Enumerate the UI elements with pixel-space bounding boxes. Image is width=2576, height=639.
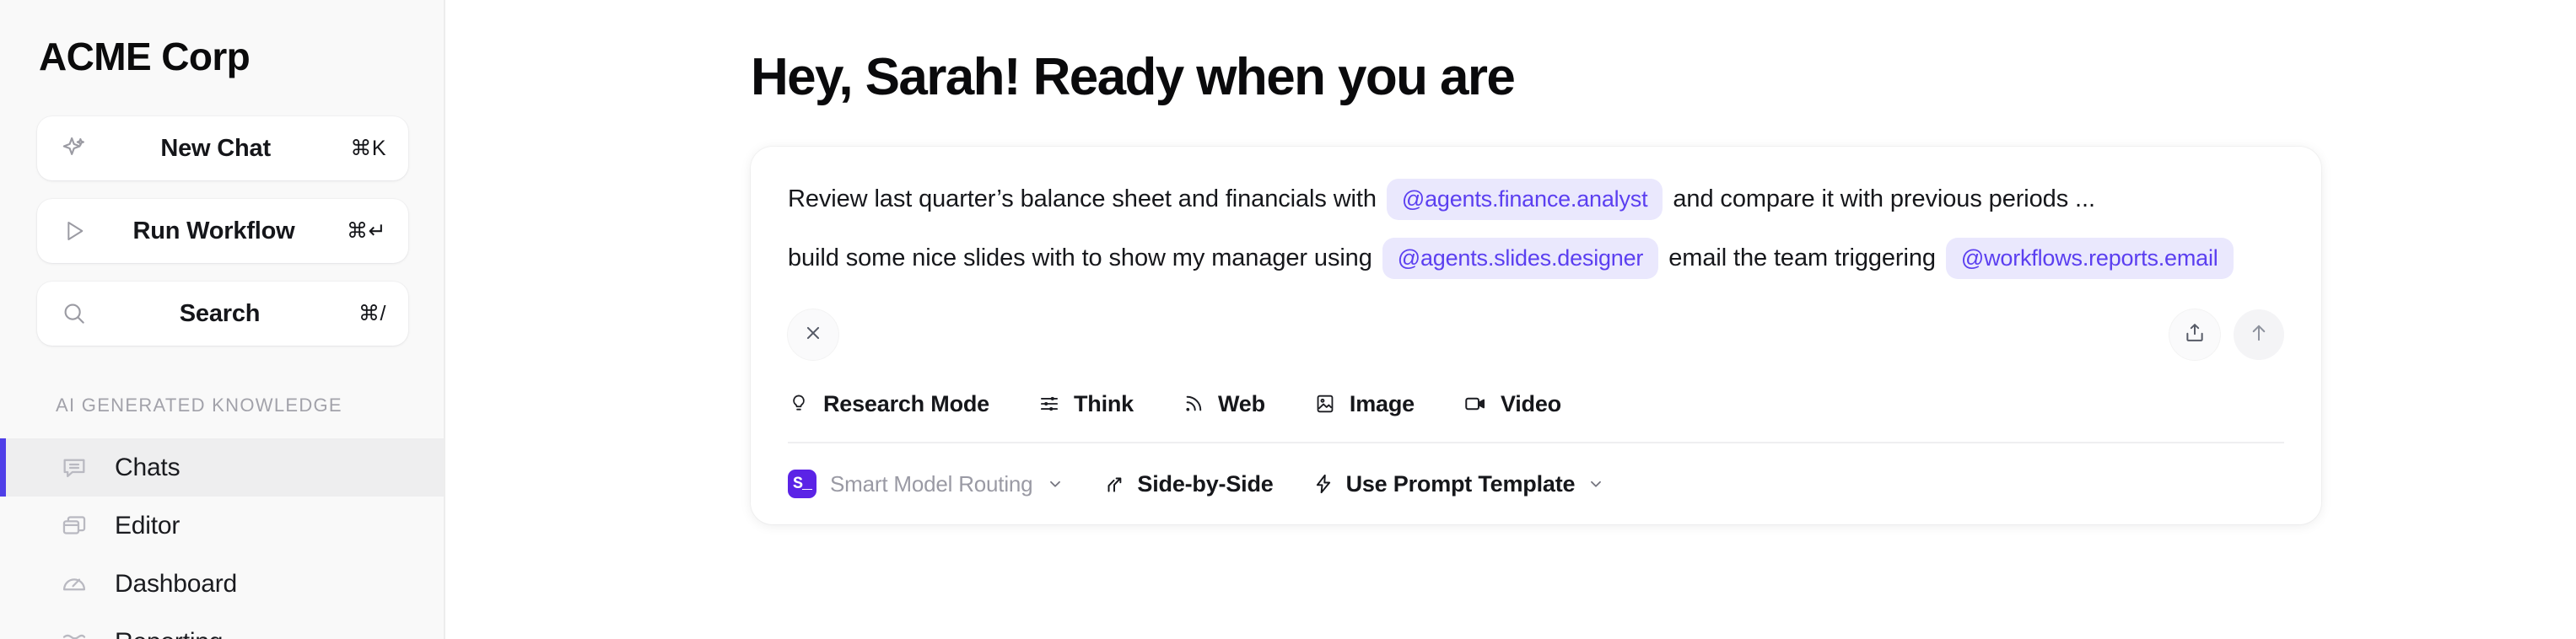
tool-label: Research Mode	[823, 391, 989, 417]
tool-label: Web	[1218, 391, 1265, 417]
share-button[interactable]	[2169, 309, 2220, 360]
brand-title: ACME Corp	[0, 24, 444, 79]
section-label-ai-generated-knowledge: AI GENERATED KNOWLEDGE	[0, 395, 444, 416]
sidebar-nav: Chats Editor	[0, 438, 444, 639]
bolt-icon	[1312, 473, 1334, 495]
tool-image[interactable]: Image	[1314, 391, 1415, 417]
run-workflow-button[interactable]: Run Workflow ⌘↵	[37, 199, 408, 263]
composer-tool-row: Research Mode Think	[788, 366, 2284, 437]
prompt-text-segment: Review last quarter’s balance sheet and …	[788, 185, 1377, 213]
composer-right-actions	[2169, 309, 2284, 360]
quick-actions: New Chat ⌘K Run Workflow ⌘↵	[0, 116, 444, 346]
sidebar-item-chats[interactable]: Chats	[0, 438, 444, 497]
sidebar-item-label: Dashboard	[115, 570, 237, 599]
tool-label: Think	[1074, 391, 1134, 417]
mention-chip-workflows-reports-email[interactable]: @workflows.reports.email	[1946, 238, 2234, 279]
gauge-icon	[56, 566, 93, 603]
smart-routing-badge: S_	[788, 470, 816, 498]
tool-label: Video	[1501, 391, 1561, 417]
search-button[interactable]: Search ⌘/	[37, 282, 408, 346]
main-content: Hey, Sarah! Ready when you are Review la…	[445, 0, 2576, 639]
chevron-down-icon	[1046, 475, 1064, 493]
search-label: Search	[81, 300, 358, 328]
side-by-side-button[interactable]: Side-by-Side	[1103, 471, 1273, 497]
chevron-down-icon	[1587, 475, 1605, 493]
run-workflow-shortcut: ⌘↵	[347, 218, 386, 244]
tool-video[interactable]: Video	[1463, 391, 1561, 417]
app-root: ACME Corp New Chat ⌘K Run Wo	[0, 0, 2576, 639]
model-selector[interactable]: S_ Smart Model Routing	[788, 470, 1064, 498]
prompt-line-2[interactable]: build some nice slides with to show my m…	[788, 234, 2284, 282]
option-label: Use Prompt Template	[1346, 471, 1576, 497]
sidebar-item-dashboard[interactable]: Dashboard	[0, 555, 444, 613]
sidebar-item-editor[interactable]: Editor	[0, 497, 444, 555]
sidebar-item-label: Chats	[115, 454, 180, 482]
tool-label: Image	[1350, 391, 1415, 417]
image-icon	[1314, 393, 1336, 415]
prompt-text-segment: build some nice slides with to show my m…	[788, 244, 1372, 272]
tool-research-mode[interactable]: Research Mode	[788, 391, 989, 417]
arrow-up-icon	[2247, 321, 2271, 349]
mention-chip-slides-designer[interactable]: @agents.slides.designer	[1382, 238, 1658, 279]
tool-think[interactable]: Think	[1038, 391, 1134, 417]
new-chat-label: New Chat	[81, 135, 350, 163]
clear-prompt-button[interactable]	[788, 309, 838, 360]
windows-stack-icon	[56, 507, 93, 545]
video-icon	[1463, 392, 1487, 416]
lightbulb-icon	[788, 393, 810, 415]
rss-icon	[1183, 393, 1204, 415]
search-shortcut: ⌘/	[358, 301, 386, 326]
prompt-text-segment: and compare it with previous periods ...	[1673, 185, 2095, 213]
run-workflow-label: Run Workflow	[81, 217, 347, 245]
chat-bubble-icon	[56, 449, 93, 486]
use-prompt-template-button[interactable]: Use Prompt Template	[1312, 471, 1606, 497]
send-button[interactable]	[2234, 309, 2284, 360]
prompt-composer: Review last quarter’s balance sheet and …	[751, 147, 2321, 524]
upload-icon	[2183, 321, 2207, 349]
composer-model-row: S_ Smart Model Routing	[788, 443, 2284, 524]
branch-icon	[1103, 473, 1125, 495]
new-chat-button[interactable]: New Chat ⌘K	[37, 116, 408, 180]
tool-web[interactable]: Web	[1183, 391, 1265, 417]
sidebar-item-label: Editor	[115, 512, 180, 540]
sidebar: ACME Corp New Chat ⌘K Run Wo	[0, 0, 445, 639]
prompt-text-segment: email the team triggering	[1668, 244, 1936, 272]
option-label: Side-by-Side	[1137, 471, 1273, 497]
page-title: Hey, Sarah! Ready when you are	[751, 49, 2576, 106]
sidebar-item-reporting[interactable]: Reporting	[0, 613, 444, 639]
mention-chip-finance-analyst[interactable]: @agents.finance.analyst	[1387, 179, 1663, 220]
waves-icon	[56, 624, 93, 639]
new-chat-shortcut: ⌘K	[350, 136, 386, 161]
prompt-line-1[interactable]: Review last quarter’s balance sheet and …	[788, 175, 2284, 223]
sliders-icon	[1038, 393, 1060, 415]
sidebar-item-label: Reporting	[115, 628, 223, 639]
composer-action-row	[788, 303, 2284, 366]
model-name-label: Smart Model Routing	[830, 471, 1032, 497]
close-icon	[802, 322, 824, 348]
